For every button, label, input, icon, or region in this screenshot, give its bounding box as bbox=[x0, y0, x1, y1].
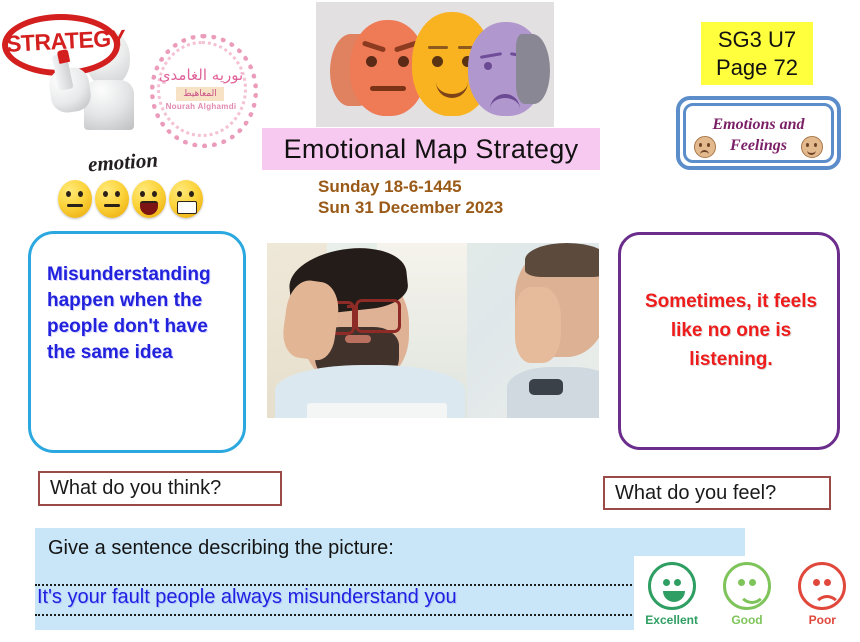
profile-right-face bbox=[516, 34, 550, 104]
photo-second-man-hair bbox=[525, 243, 599, 277]
feeling-statement-text: Sometimes, it feels like no one is liste… bbox=[633, 287, 829, 374]
page-reference-label: SG3 U7 Page 72 bbox=[701, 22, 813, 85]
slide-canvas: STRATEGY نوريه الغامدي المعاهيط Nourah A… bbox=[0, 0, 860, 642]
sad-face-icon bbox=[694, 136, 716, 158]
rating-label-excellent: Excellent bbox=[638, 613, 706, 627]
photo-main-man-lip bbox=[345, 335, 371, 343]
feeling-statement-box: Sometimes, it feels like no one is liste… bbox=[618, 232, 840, 450]
gregorian-date: Sun 31 December 2023 bbox=[318, 197, 578, 218]
marker-tip-icon bbox=[57, 49, 70, 64]
title-banner: Emotional Map Strategy bbox=[262, 128, 600, 170]
photo-paper bbox=[307, 403, 447, 418]
laughing-emoticon-icon bbox=[132, 180, 166, 218]
page-label-line2: Page 72 bbox=[716, 54, 798, 82]
hijri-date: Sunday 18-6-1445 bbox=[318, 176, 578, 197]
rating-option-poor[interactable]: Poor bbox=[788, 562, 856, 627]
figure-body-shape bbox=[84, 80, 134, 130]
signature-latin-name: Nourah Alghamdi bbox=[154, 102, 248, 111]
feedback-rating-panel: Excellent Good Poor bbox=[634, 556, 860, 642]
smirk-emoticon-icon bbox=[58, 180, 92, 218]
misunderstanding-statement-box: Misunderstanding happen when the people … bbox=[28, 231, 246, 453]
emotions-and-feelings-badge: Emotions and Feelings bbox=[676, 96, 841, 170]
badge-inner-frame: Emotions and Feelings bbox=[683, 103, 834, 163]
answer-handwritten-text[interactable]: It's your fault people always misunderst… bbox=[37, 586, 677, 609]
page-title: Emotional Map Strategy bbox=[284, 134, 579, 165]
answer-prompt-label: Give a sentence describing the picture: bbox=[48, 537, 394, 560]
emoticon-row bbox=[58, 178, 203, 220]
rating-option-excellent[interactable]: Excellent bbox=[638, 562, 706, 627]
emotion-word-label: emotion bbox=[87, 148, 159, 178]
frown-face-icon bbox=[798, 562, 846, 610]
rating-option-good[interactable]: Good bbox=[713, 562, 781, 627]
photo-wristwatch bbox=[529, 379, 563, 395]
signature-arabic-name: نوريه الغامدي bbox=[158, 66, 244, 84]
question-think-label: What do you think? bbox=[50, 477, 221, 500]
date-block: Sunday 18-6-1445 Sun 31 December 2023 bbox=[318, 176, 578, 218]
signature-arabic-sub: المعاهيط bbox=[176, 87, 224, 101]
surprised-emoticon-icon bbox=[95, 180, 129, 218]
misunderstanding-statement-text: Misunderstanding happen when the people … bbox=[47, 262, 237, 366]
question-what-do-you-think: What do you think? bbox=[38, 471, 282, 506]
photo-second-man-hand bbox=[515, 287, 561, 363]
photo-glasses-right-lens bbox=[355, 299, 401, 333]
question-feel-label: What do you feel? bbox=[615, 482, 776, 505]
smile-face-icon bbox=[723, 562, 771, 610]
photo-glasses-bridge bbox=[347, 305, 357, 308]
emotion-faces-illustration bbox=[316, 2, 554, 127]
question-what-do-you-feel: What do you feel? bbox=[603, 476, 831, 510]
frustrated-conversation-photo bbox=[267, 243, 599, 418]
badge-text: Emotions and Feelings bbox=[708, 114, 809, 156]
big-open-smile-face-icon bbox=[648, 562, 696, 610]
grin-emoticon-icon bbox=[169, 180, 203, 218]
rating-label-good: Good bbox=[713, 613, 781, 627]
rating-label-poor: Poor bbox=[788, 613, 856, 627]
badge-line2: Feelings bbox=[708, 135, 809, 156]
page-label-line1: SG3 U7 bbox=[718, 26, 796, 54]
signature-wreath: نوريه الغامدي المعاهيط Nourah Alghamdi bbox=[148, 32, 252, 142]
happy-face-icon bbox=[801, 136, 823, 158]
strategy-clipart: STRATEGY bbox=[0, 8, 145, 148]
badge-line1: Emotions and bbox=[708, 114, 809, 135]
